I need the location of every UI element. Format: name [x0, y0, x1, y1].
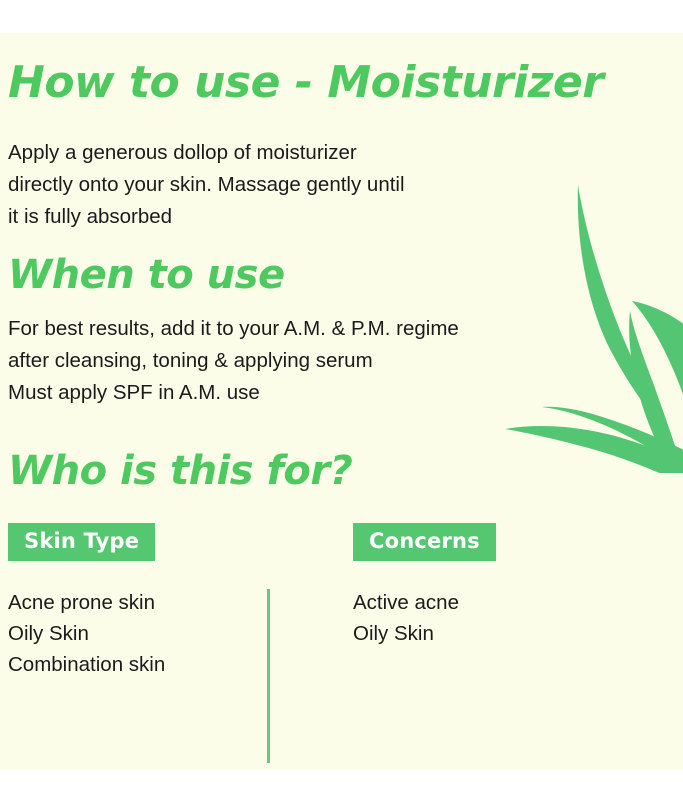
- column-divider: [267, 589, 270, 763]
- badge-concerns: Concerns: [353, 523, 496, 561]
- column-skin-type: Skin Type Acne prone skin Oily Skin Comb…: [8, 523, 165, 680]
- how-to-use-body: Apply a generous dollop of moisturizer d…: [8, 137, 405, 233]
- how-to-use-line-3: it is fully absorbed: [8, 201, 405, 233]
- list-item: Combination skin: [8, 649, 165, 680]
- how-to-use-line-1: Apply a generous dollop of moisturizer: [8, 137, 405, 169]
- moisturizer-how-to-use-infographic: How to use - Moisturizer Apply a generou…: [0, 0, 683, 800]
- audience-columns: Skin Type Acne prone skin Oily Skin Comb…: [0, 523, 683, 770]
- skin-type-list: Acne prone skin Oily Skin Combination sk…: [8, 587, 165, 680]
- heading-who-is-this-for: Who is this for?: [8, 451, 352, 491]
- when-to-use-line-1: For best results, add it to your A.M. & …: [8, 313, 459, 345]
- list-item: Oily Skin: [8, 618, 165, 649]
- badge-skin-type: Skin Type: [8, 523, 155, 561]
- list-item: Acne prone skin: [8, 587, 165, 618]
- heading-when-to-use: When to use: [8, 255, 285, 295]
- when-to-use-line-2: after cleansing, toning & applying serum: [8, 345, 459, 377]
- infographic-content: How to use - Moisturizer Apply a generou…: [0, 33, 683, 770]
- list-item: Oily Skin: [353, 618, 496, 649]
- concerns-list: Active acne Oily Skin: [353, 587, 496, 649]
- column-concerns: Concerns Active acne Oily Skin: [353, 523, 496, 649]
- when-to-use-line-3: Must apply SPF in A.M. use: [8, 377, 459, 409]
- when-to-use-body: For best results, add it to your A.M. & …: [8, 313, 459, 409]
- content-panel: How to use - Moisturizer Apply a generou…: [0, 33, 683, 770]
- list-item: Active acne: [353, 587, 496, 618]
- how-to-use-line-2: directly onto your skin. Massage gently …: [8, 169, 405, 201]
- heading-how-to-use: How to use - Moisturizer: [8, 61, 603, 105]
